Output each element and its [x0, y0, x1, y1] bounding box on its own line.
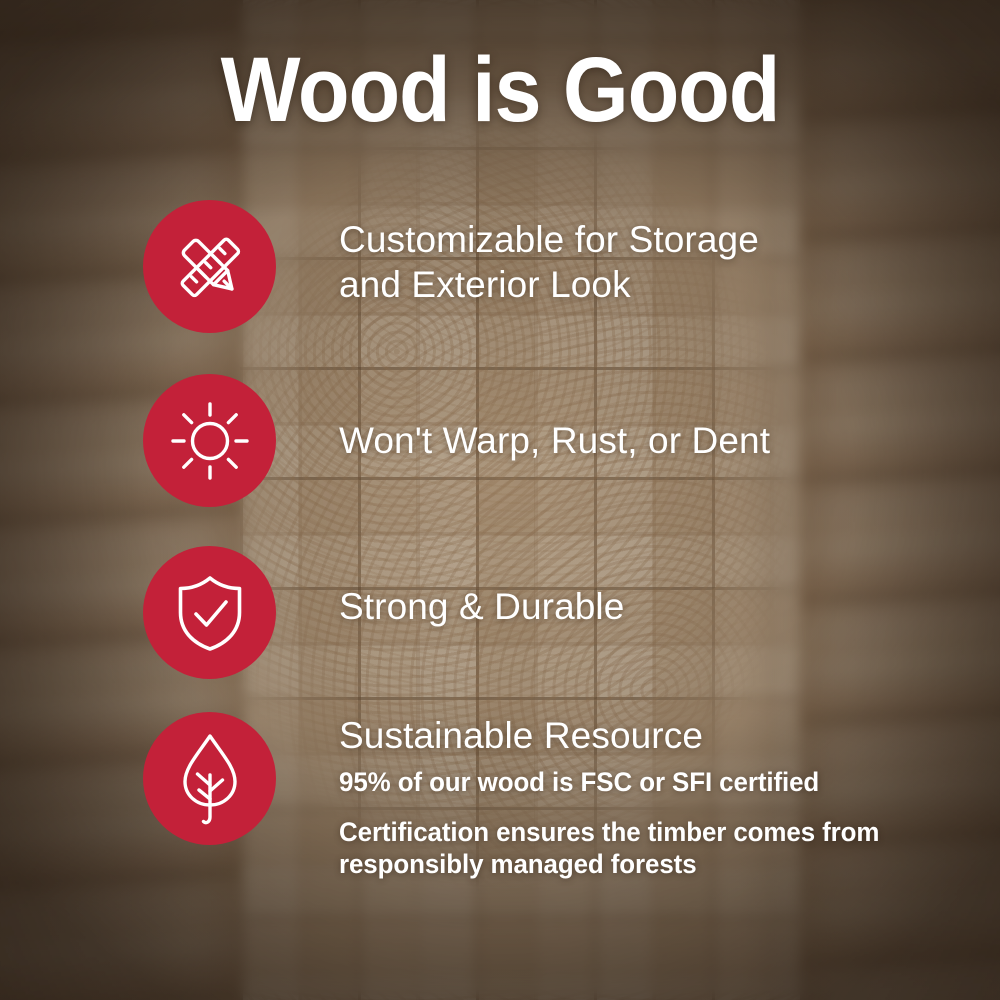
feature-headline-line-1: Strong & Durable	[339, 585, 960, 629]
feature-text: Won't Warp, Rust, or Dent	[339, 419, 960, 463]
feature-text: Strong & Durable	[339, 585, 960, 629]
feature-text: Sustainable Resource 95% of our wood is …	[339, 714, 960, 881]
feature-subline-certification-line-2: responsibly managed forests	[339, 848, 935, 880]
leaf-icon	[175, 731, 245, 827]
feature-headline-line-1: Sustainable Resource	[339, 714, 960, 758]
feature-headline-line-1: Customizable for Storage	[339, 217, 960, 262]
page-title: Wood is Good	[40, 44, 960, 136]
feature-subline-certified: 95% of our wood is FSC or SFI certified	[339, 766, 935, 798]
feature-subline-certification-line-1: Certification ensures the timber comes f…	[339, 816, 935, 848]
sun-icon	[169, 400, 251, 482]
feature-item-strong-durable: Strong & Durable	[0, 542, 1000, 712]
feature-headline-line-2: and Exterior Look	[339, 262, 960, 307]
feature-item-customizable: Customizable for Storage and Exterior Lo…	[0, 196, 1000, 370]
feature-headline-line-1: Won't Warp, Rust, or Dent	[339, 419, 960, 463]
feature-text: Customizable for Storage and Exterior Lo…	[339, 217, 960, 307]
feature-item-sustainable: Sustainable Resource 95% of our wood is …	[0, 712, 1000, 912]
feature-icon-badge	[143, 712, 276, 845]
feature-icon-badge	[143, 200, 276, 333]
feature-subline-certification: Certification ensures the timber comes f…	[339, 816, 935, 881]
poster-content: Wood is Good	[0, 0, 1000, 1000]
shield-check-icon	[172, 573, 248, 653]
ruler-pencil-icon	[170, 227, 250, 307]
wood-is-good-infographic: Wood is Good	[0, 0, 1000, 1000]
feature-icon-badge	[143, 546, 276, 679]
feature-icon-badge	[143, 374, 276, 507]
feature-item-wont-warp: Won't Warp, Rust, or Dent	[0, 370, 1000, 542]
feature-list: Customizable for Storage and Exterior Lo…	[0, 196, 1000, 912]
